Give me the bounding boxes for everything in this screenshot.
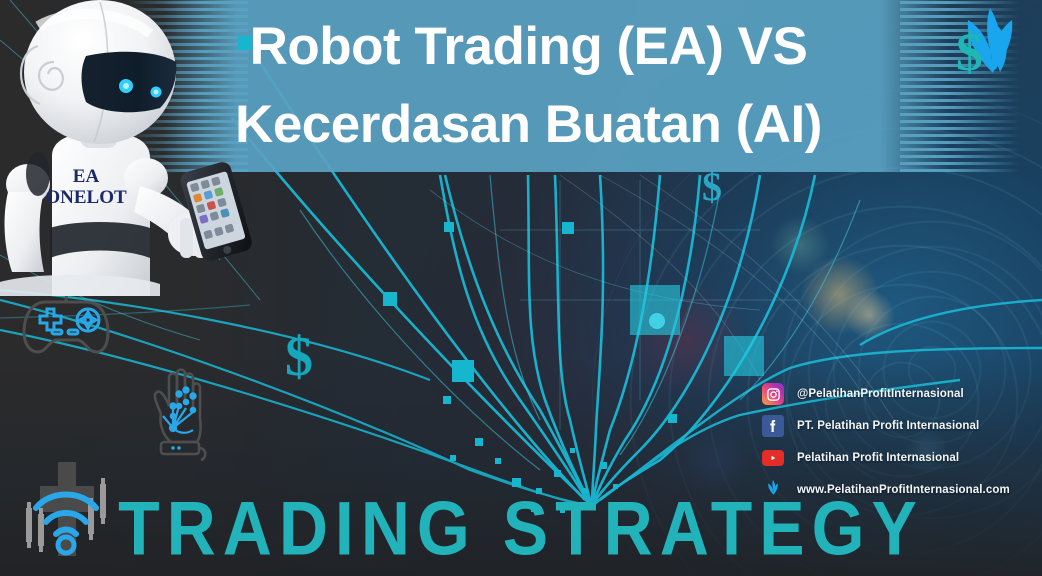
scatter-square-5 bbox=[554, 470, 561, 477]
page-title: Robot Trading (EA) VS Kecerdasan Buatan … bbox=[0, 8, 1042, 164]
facebook-icon bbox=[762, 415, 784, 437]
decor-square-9 bbox=[668, 414, 677, 423]
poster-canvas: $ $ Robot Trading (EA) VS Kecerdasan Bua… bbox=[0, 0, 1042, 576]
decor-square-8 bbox=[724, 336, 764, 376]
decor-square-7 bbox=[630, 285, 680, 335]
social-links-list: @PelatihanProfitInternasional PT. Pelati… bbox=[762, 378, 1010, 506]
social-row-instagram[interactable]: @PelatihanProfitInternasional bbox=[762, 378, 1010, 410]
decor-square-6 bbox=[443, 396, 451, 404]
robot-chest-line-1: EA bbox=[73, 166, 100, 187]
dollar-sign-large: $ bbox=[285, 325, 313, 389]
social-label-website: www.PelatihanProfitInternasional.com bbox=[797, 484, 1010, 496]
youtube-icon bbox=[762, 450, 784, 466]
social-label-instagram: @PelatihanProfitInternasional bbox=[797, 388, 964, 400]
lotus-dollar-logo: $ bbox=[940, 4, 1040, 100]
scatter-square-8 bbox=[600, 462, 607, 469]
scatter-square-2 bbox=[495, 458, 501, 464]
instagram-icon bbox=[762, 383, 784, 405]
title-line-1: Robot Trading (EA) VS bbox=[0, 8, 1042, 86]
scatter-square-6 bbox=[570, 448, 575, 453]
social-label-facebook: PT. Pelatihan Profit Internasional bbox=[797, 420, 979, 432]
social-label-youtube: Pelatihan Profit Internasional bbox=[797, 452, 959, 464]
title-line-2: Kecerdasan Buatan (AI) bbox=[0, 86, 1042, 164]
social-row-website[interactable]: www.PelatihanProfitInternasional.com bbox=[762, 474, 1010, 506]
social-row-youtube[interactable]: Pelatihan Profit Internasional bbox=[762, 442, 1010, 474]
robot-chest-line-2: ONELOT bbox=[45, 187, 127, 208]
decor-square-4 bbox=[444, 222, 454, 232]
website-lotus-icon bbox=[762, 479, 784, 501]
robotic-hand-icon bbox=[145, 366, 211, 466]
social-row-facebook[interactable]: PT. Pelatihan Profit Internasional bbox=[762, 410, 1010, 442]
logo-dollar-glyph: $ bbox=[956, 22, 983, 82]
scatter-square-12 bbox=[450, 455, 456, 461]
gamepad-icon bbox=[20, 286, 112, 358]
decor-square-5 bbox=[562, 222, 574, 234]
decor-square-3 bbox=[452, 360, 474, 382]
decor-square-2 bbox=[383, 292, 397, 306]
scatter-square-1 bbox=[475, 438, 483, 446]
dollar-sign-small: $ bbox=[702, 163, 722, 210]
